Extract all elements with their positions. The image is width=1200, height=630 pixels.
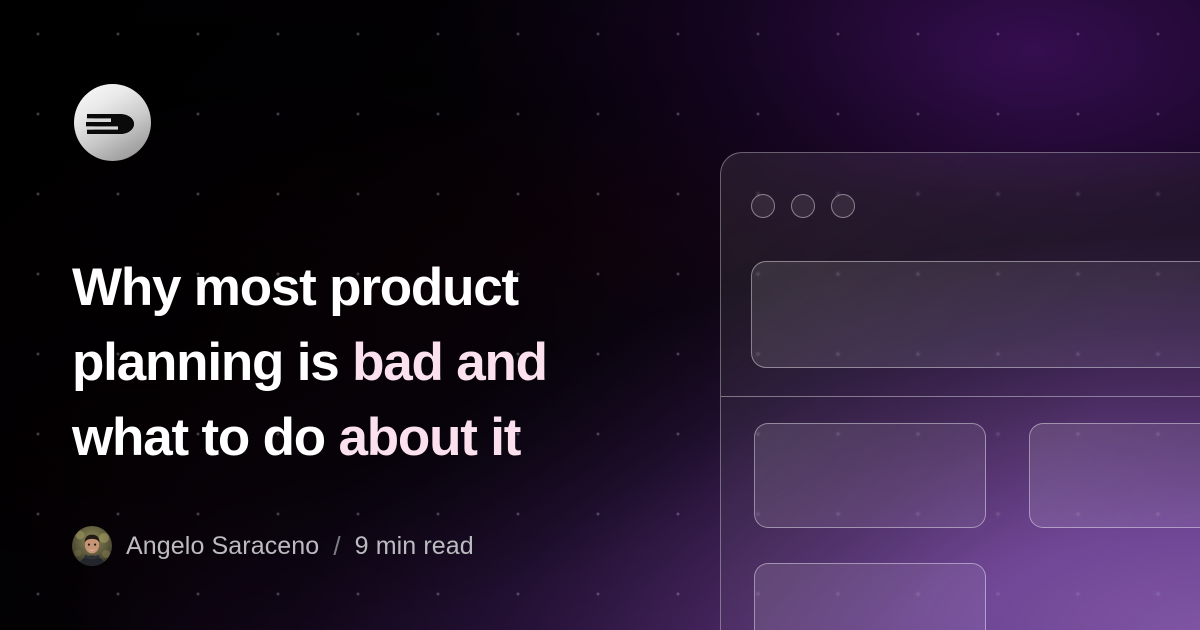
headline-line-3: what to do bbox=[72, 408, 338, 467]
mockup-card-c bbox=[754, 563, 986, 630]
headline-line-2-accent: bad and bbox=[352, 333, 547, 392]
byline-text: Angelo Saraceno / 9 min read bbox=[126, 531, 474, 562]
headline-line-3-accent: about it bbox=[338, 408, 520, 467]
mockup-card-row bbox=[754, 423, 1200, 528]
mockup-card-b bbox=[1029, 423, 1200, 528]
mockup-divider bbox=[721, 396, 1200, 397]
headline-line-2: planning is bbox=[72, 333, 352, 392]
mockup-hero-panel bbox=[751, 261, 1200, 368]
headline-line-1: Why most product bbox=[72, 258, 518, 317]
window-dot-1-icon bbox=[751, 194, 775, 218]
window-titlebar bbox=[751, 194, 855, 218]
window-dot-3-icon bbox=[831, 194, 855, 218]
page-title: Why most product planning is bad and wha… bbox=[72, 250, 632, 475]
byline-separator: / bbox=[333, 531, 340, 562]
mockup-card-a bbox=[754, 423, 986, 528]
og-social-card: Why most product planning is bad and wha… bbox=[0, 0, 1200, 630]
browser-window-mockup bbox=[720, 152, 1200, 630]
author-avatar bbox=[72, 526, 112, 566]
window-dot-2-icon bbox=[791, 194, 815, 218]
bullet-train-circle-logo-icon bbox=[74, 84, 151, 161]
read-time: 9 min read bbox=[355, 532, 474, 561]
article-content: Why most product planning is bad and wha… bbox=[72, 250, 632, 475]
author-name: Angelo Saraceno bbox=[126, 532, 319, 561]
byline: Angelo Saraceno / 9 min read bbox=[72, 522, 474, 570]
